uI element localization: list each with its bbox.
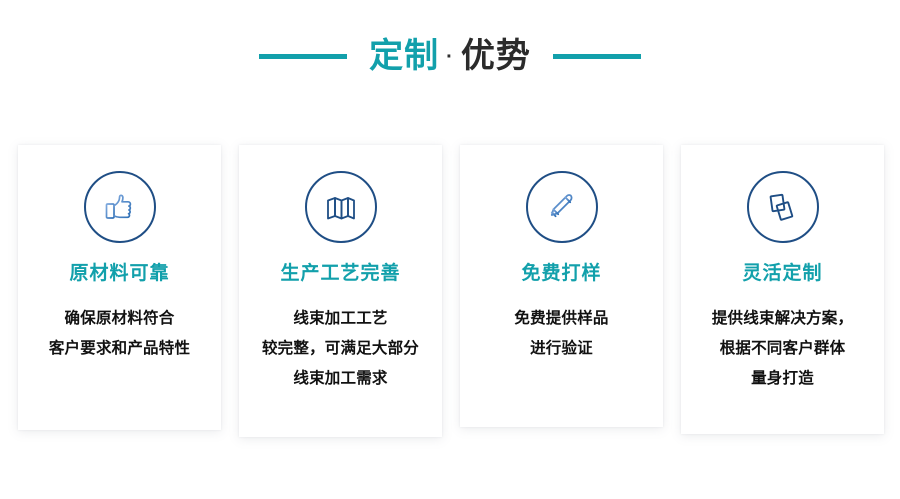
feature-card[interactable]: 生产工艺完善 线束加工工艺 较完整，可满足大部分 线束加工需求 <box>239 145 442 437</box>
feature-card-body-line: 根据不同客户群体 <box>712 334 853 364</box>
page-title: 定制 · 优势 <box>369 39 531 73</box>
feature-card-title: 原材料可靠 <box>69 263 169 286</box>
header-rule-left <box>259 54 347 59</box>
feature-card-body: 免费提供样品 进行验证 <box>514 304 608 364</box>
thumbs-up-icon <box>84 171 156 243</box>
page-title-accent: 定制 <box>369 39 439 73</box>
feature-card-body-line: 确保原材料符合 <box>49 304 190 334</box>
page-title-main: 优势 <box>461 39 531 73</box>
feature-card[interactable]: 原材料可靠 确保原材料符合 客户要求和产品特性 <box>18 145 221 430</box>
feature-card-body: 提供线束解决方案， 根据不同客户群体 量身打造 <box>712 304 853 395</box>
feature-card-body-line: 客户要求和产品特性 <box>49 334 190 364</box>
feature-card-body: 线束加工工艺 较完整，可满足大部分 线束加工需求 <box>262 304 419 395</box>
feature-card-body-line: 线束加工工艺 <box>262 304 419 334</box>
stacked-cards-icon <box>747 171 819 243</box>
section-header: 定制 · 优势 <box>0 26 900 86</box>
feature-card-body-line: 量身打造 <box>712 364 853 394</box>
feature-card[interactable]: 免费打样 免费提供样品 进行验证 <box>460 145 663 427</box>
feature-card-list: 原材料可靠 确保原材料符合 客户要求和产品特性 生产工艺完善 线束加工工艺 较完… <box>18 145 884 437</box>
pencil-icon <box>526 171 598 243</box>
page-title-separator: · <box>446 47 454 67</box>
feature-card-body-line: 较完整，可满足大部分 <box>262 334 419 364</box>
feature-card-body-line: 进行验证 <box>514 334 608 364</box>
feature-card-body-line: 提供线束解决方案， <box>712 304 853 334</box>
header-rule-right <box>553 54 641 59</box>
feature-card-body-line: 免费提供样品 <box>514 304 608 334</box>
folded-map-icon <box>305 171 377 243</box>
feature-card[interactable]: 灵活定制 提供线束解决方案， 根据不同客户群体 量身打造 <box>681 145 884 434</box>
feature-card-title: 灵活定制 <box>742 263 822 286</box>
feature-card-title: 生产工艺完善 <box>280 263 400 286</box>
feature-card-title: 免费打样 <box>521 263 601 286</box>
feature-card-body-line: 线束加工需求 <box>262 364 419 394</box>
feature-card-body: 确保原材料符合 客户要求和产品特性 <box>49 304 190 364</box>
